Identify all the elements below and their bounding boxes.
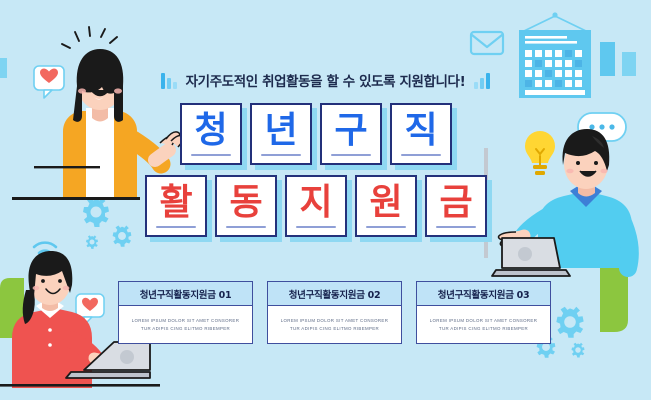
heart-speech-bubble-2: [76, 294, 104, 325]
title-char: 동: [229, 185, 262, 221]
title-tile: 금: [425, 175, 487, 237]
envelope-icon: [471, 32, 503, 54]
info-card-text: LOREM IPSUM DOLOR SIT AMET CONSORER TUR …: [281, 317, 388, 332]
title-char: 원: [369, 185, 402, 221]
info-card-text-line1: LOREM IPSUM DOLOR SIT AMET CONSORER: [430, 317, 537, 325]
title-char: 직: [404, 113, 437, 149]
info-card-body: LOREM IPSUM DOLOR SIT AMET CONSORER TUR …: [119, 306, 252, 343]
bar-chart-icon-left: [161, 72, 177, 89]
info-card-text: LOREM IPSUM DOLOR SIT AMET CONSORER TUR …: [132, 317, 239, 332]
info-card-header: 청년구직활동지원금 03: [417, 282, 550, 306]
title-char: 구: [334, 113, 367, 149]
pointing-hand: [499, 232, 517, 246]
title-tile: 구: [320, 103, 382, 165]
info-card-body: LOREM IPSUM DOLOR SIT AMET CONSORER TUR …: [417, 306, 550, 343]
title-tile: 년: [250, 103, 312, 165]
lightbulb-icon: [525, 131, 555, 175]
title-char: 금: [439, 185, 472, 221]
title-tile: 동: [215, 175, 277, 237]
title-tile: 청: [180, 103, 242, 165]
info-card-header: 청년구직활동지원금 02: [268, 282, 401, 306]
info-card-body: LOREM IPSUM DOLOR SIT AMET CONSORER TUR …: [268, 306, 401, 343]
info-card-text-line1: LOREM IPSUM DOLOR SIT AMET CONSORER: [132, 317, 239, 325]
info-card-text-line2: TUR ADIPIS CING ELITMO RIBEMPER: [281, 325, 388, 333]
subtitle-row: 자기주도적인 취업활동을 할 수 있도록 지원합니다!: [0, 70, 651, 90]
title-row-1: 청 년 구 직: [180, 103, 452, 165]
poster-canvas: 자기주도적인 취업활동을 할 수 있도록 지원합니다! 청 년 구 직 활 동 …: [0, 0, 651, 400]
info-card-header: 청년구직활동지원금 01: [119, 282, 252, 306]
info-card-text: LOREM IPSUM DOLOR SIT AMET CONSORER TUR …: [430, 317, 537, 332]
title-tile: 지: [285, 175, 347, 237]
title-tile: 활: [145, 175, 207, 237]
title-char: 활: [159, 185, 192, 221]
title-char: 년: [264, 113, 297, 149]
info-card-03[interactable]: 청년구직활동지원금 03 LOREM IPSUM DOLOR SIT AMET …: [416, 281, 551, 344]
gears-icon-left: [83, 198, 131, 249]
title-tile: 원: [355, 175, 417, 237]
info-card-title: 청년구직활동지원금 02: [289, 287, 381, 301]
wifi-icon: [34, 243, 56, 261]
info-card-title: 청년구직활동지원금 01: [140, 287, 232, 301]
info-card-01[interactable]: 청년구직활동지원금 01 LOREM IPSUM DOLOR SIT AMET …: [118, 281, 253, 344]
info-card-02[interactable]: 청년구직활동지원금 02 LOREM IPSUM DOLOR SIT AMET …: [267, 281, 402, 344]
title-tile: 직: [390, 103, 452, 165]
title-char: 지: [299, 185, 332, 221]
title-row-2: 활 동 지 원 금: [145, 175, 487, 237]
laptop-icon: [66, 342, 150, 378]
info-card-text-line1: LOREM IPSUM DOLOR SIT AMET CONSORER: [281, 317, 388, 325]
info-card-title: 청년구직활동지원금 03: [438, 287, 530, 301]
info-card-text-line2: TUR ADIPIS CING ELITMO RIBEMPER: [132, 325, 239, 333]
dots-speech-bubble: [578, 113, 626, 150]
subtitle-text: 자기주도적인 취업활동을 할 수 있도록 지원합니다!: [186, 70, 466, 90]
info-card-text-line2: TUR ADIPIS CING ELITMO RIBEMPER: [430, 325, 537, 333]
info-card-list: 청년구직활동지원금 01 LOREM IPSUM DOLOR SIT AMET …: [118, 281, 551, 344]
bar-chart-icon-right: [474, 72, 490, 89]
title-char: 청: [194, 113, 227, 149]
laptop-icon-2: [492, 238, 570, 276]
